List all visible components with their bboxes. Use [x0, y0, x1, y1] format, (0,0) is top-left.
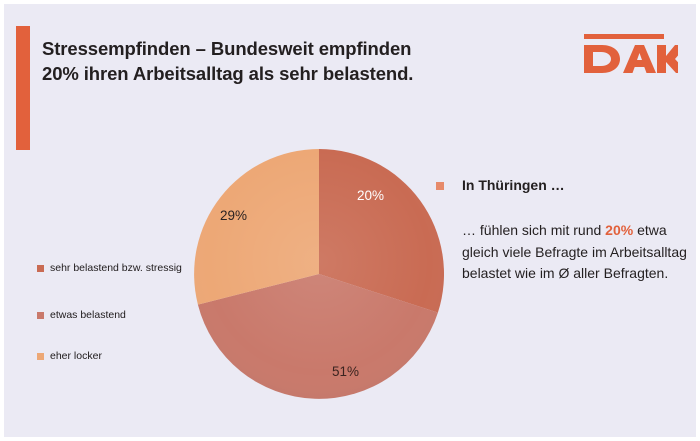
legend-swatch-icon	[37, 312, 44, 319]
accent-bar	[16, 26, 30, 150]
legend-swatch-icon	[37, 353, 44, 360]
page-title: Stressempfinden – Bundesweit empfinden 2…	[42, 36, 562, 86]
dak-logo	[582, 33, 678, 75]
pie-value-label-eher-locker: 29%	[220, 208, 247, 223]
legend-item-eher-locker: eher locker	[37, 350, 187, 363]
page-title-line-1: Stressempfinden – Bundesweit empfinden	[42, 36, 562, 61]
callout-block: In Thüringen … … fühlen sich mit rund 20…	[436, 176, 688, 285]
legend-item-label: etwas belastend	[50, 309, 187, 322]
callout-heading-text: In Thüringen …	[462, 177, 565, 193]
callout-body: … fühlen sich mit rund 20% etwa gleich v…	[436, 220, 688, 285]
callout-body-part-1: … fühlen sich mit rund	[462, 222, 605, 238]
page-title-line-2: 20% ihren Arbeitsalltag als sehr belaste…	[42, 61, 562, 86]
pie-value-label-etwas-belastend: 51%	[332, 364, 359, 379]
legend-item-sehr-belastend: sehr belastend bzw. stressig	[37, 262, 187, 275]
pie-chart	[194, 149, 444, 399]
slide-canvas: Stressempfinden – Bundesweit empfinden 2…	[0, 0, 700, 441]
chart-legend: sehr belastend bzw. stressig etwas belas…	[37, 262, 187, 363]
legend-item-etwas-belastend: etwas belastend	[37, 309, 187, 322]
callout-heading: In Thüringen …	[436, 176, 688, 194]
pie-value-label-sehr-belastend: 20%	[357, 188, 384, 203]
callout-body-highlight: 20%	[605, 222, 633, 238]
legend-item-label: eher locker	[50, 350, 187, 363]
legend-item-label: sehr belastend bzw. stressig	[50, 262, 187, 275]
bullet-square-icon	[436, 182, 444, 190]
legend-swatch-icon	[37, 265, 44, 272]
